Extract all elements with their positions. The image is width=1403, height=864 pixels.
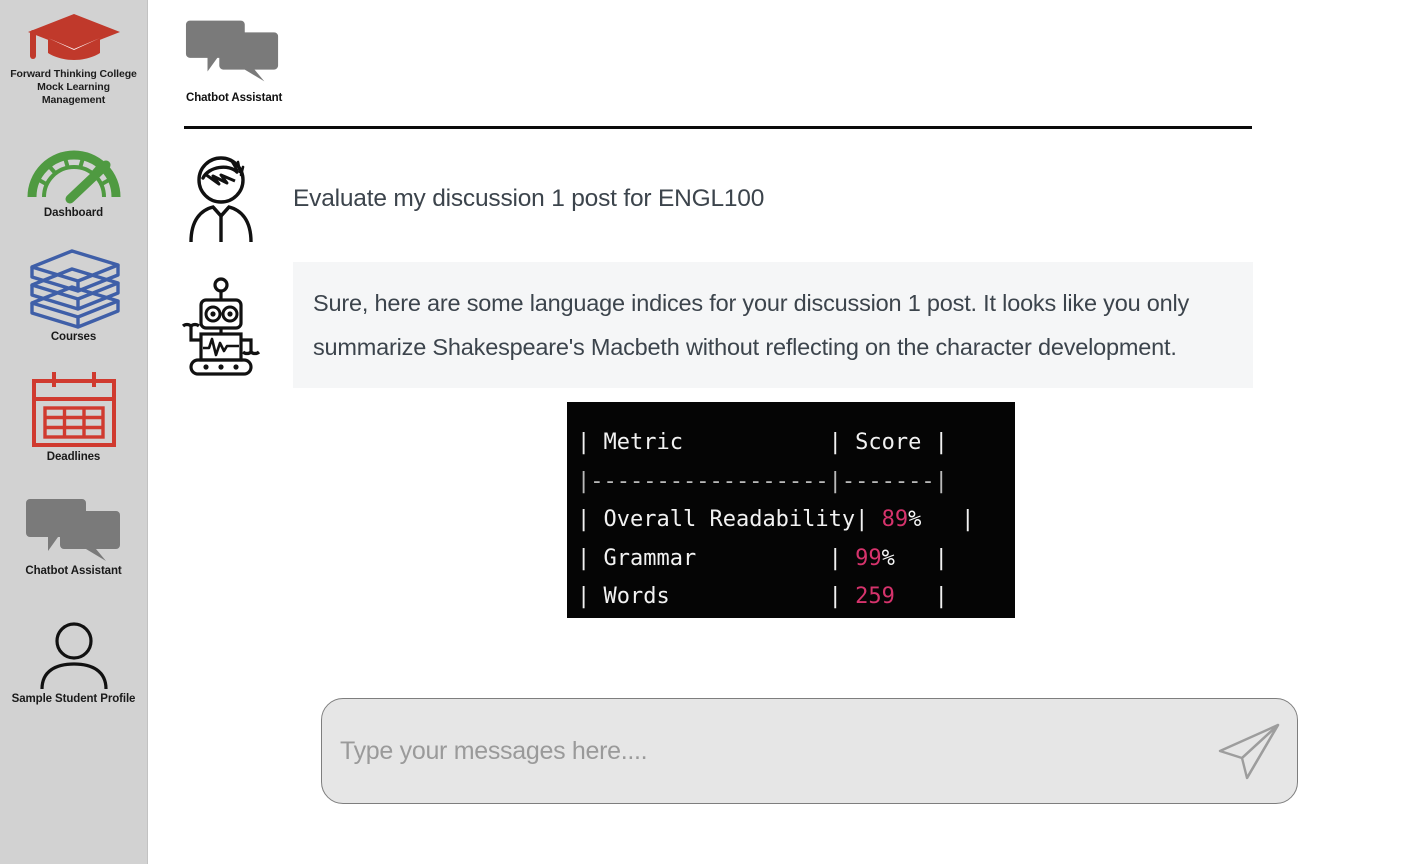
avatar <box>148 150 293 244</box>
robot-avatar-icon <box>179 276 263 376</box>
calendar-icon <box>28 369 120 449</box>
metric-name: Words <box>604 584 670 609</box>
paper-plane-icon <box>1216 721 1282 781</box>
sidebar: Forward Thinking College Mock Learning M… <box>0 0 148 864</box>
metrics-terminal-table: | Metric | Score ||------------------|--… <box>567 402 1015 618</box>
terminal-pipe: | <box>895 546 948 571</box>
sidebar-item-deadlines[interactable]: Deadlines <box>0 369 147 463</box>
sidebar-item-label: Sample Student Profile <box>0 693 147 705</box>
column-header-score: Score <box>855 430 921 455</box>
sidebar-item-label: Courses <box>0 331 147 343</box>
terminal-pipe: | <box>577 584 604 609</box>
chat-bubbles-icon <box>24 493 124 563</box>
terminal-pipe: | <box>577 546 604 571</box>
chat-bubbles-icon <box>184 14 282 84</box>
table-row: | Grammar | 99% | <box>567 540 1015 579</box>
sidebar-item-label: Dashboard <box>0 207 147 219</box>
sidebar-item-courses[interactable]: Courses <box>0 245 147 343</box>
terminal-pipe: | <box>696 546 855 571</box>
books-icon <box>20 245 128 329</box>
table-row: | Words | 259 | <box>567 578 1015 617</box>
column-header-metric: Metric <box>604 430 683 455</box>
metric-value: 89 <box>882 507 909 532</box>
header-divider <box>184 126 1252 129</box>
terminal-pipe: | <box>895 584 948 609</box>
sidebar-item-dashboard[interactable]: Dashboard <box>0 133 147 219</box>
table-row: | Overall Readability| 89% | <box>567 501 1015 540</box>
brand-line-2: Mock Learning Management <box>0 81 147 107</box>
message-text: Evaluate my discussion 1 post for ENGL10… <box>293 150 764 216</box>
terminal-pipe: | <box>921 507 974 532</box>
page-header: Chatbot Assistant <box>184 14 1252 104</box>
metric-value: 259 <box>855 584 895 609</box>
brand-block[interactable]: Forward Thinking College Mock Learning M… <box>0 0 147 107</box>
terminal-pipe: | <box>577 430 604 455</box>
sidebar-item-chatbot-assistant[interactable]: Chatbot Assistant <box>0 493 147 577</box>
terminal-pipe: | <box>670 584 855 609</box>
gauge-icon <box>22 133 126 205</box>
sidebar-item-sample-student-profile[interactable]: Sample Student Profile <box>0 619 147 705</box>
graduation-cap-icon <box>24 8 124 64</box>
metric-name: Grammar <box>604 546 697 571</box>
terminal-pipe: | <box>577 507 604 532</box>
send-button[interactable] <box>1201 721 1297 781</box>
terminal-separator-row: |------------------|-------| <box>567 463 1015 502</box>
terminal-pipe: | <box>683 430 855 455</box>
message-input[interactable] <box>322 737 1201 766</box>
message-composer[interactable] <box>321 698 1298 804</box>
avatar <box>148 262 293 376</box>
metric-value: 99 <box>855 546 882 571</box>
student-avatar-icon <box>185 152 257 244</box>
conversation-thread: Evaluate my discussion 1 post for ENGL10… <box>148 150 1403 388</box>
terminal-pipe: | <box>921 430 948 455</box>
brand-line-1: Forward Thinking College <box>0 64 147 81</box>
sidebar-item-label: Deadlines <box>0 451 147 463</box>
page-title: Chatbot Assistant <box>186 92 1252 104</box>
message-text: Sure, here are some language indices for… <box>293 262 1253 388</box>
message-user: Evaluate my discussion 1 post for ENGL10… <box>148 150 1403 244</box>
metric-unit: % <box>908 507 921 532</box>
metric-name: Overall Readability <box>604 507 856 532</box>
main-panel: Chatbot Assistant Evaluate my discussion… <box>148 0 1403 864</box>
message-bot: Sure, here are some language indices for… <box>148 262 1403 388</box>
user-outline-icon <box>31 619 117 691</box>
metric-unit: % <box>882 546 895 571</box>
sidebar-item-label: Chatbot Assistant <box>0 565 147 577</box>
terminal-header-row: | Metric | Score | <box>567 424 1015 463</box>
terminal-pipe: | <box>855 507 882 532</box>
